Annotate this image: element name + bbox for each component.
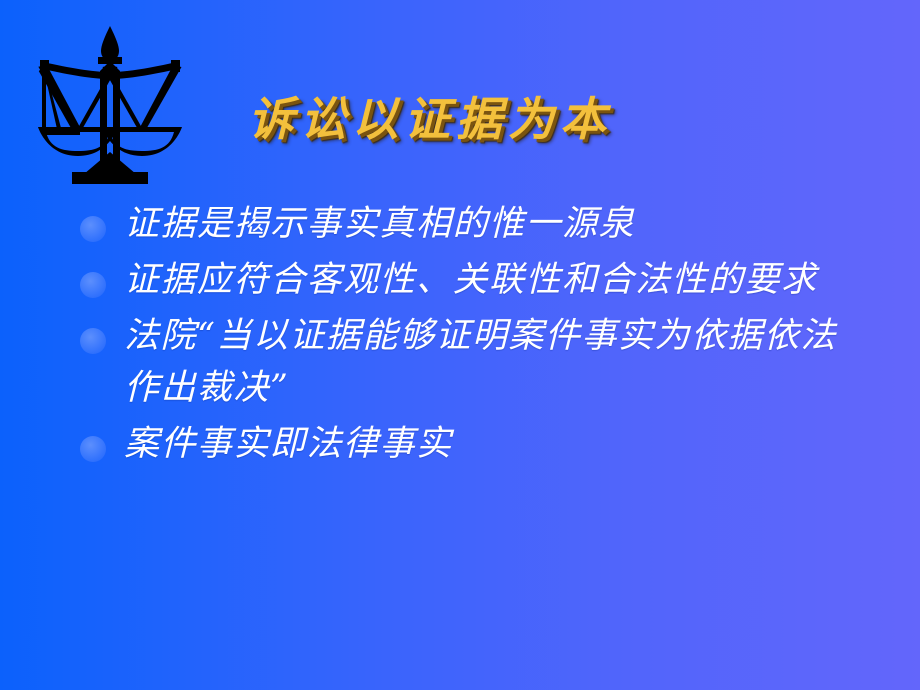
list-item: 证据是揭示事实真相的惟一源泉 xyxy=(74,198,874,250)
list-item: 案件事实即法律事实 xyxy=(74,418,874,470)
slide-title: 诉讼以证据为本 xyxy=(248,86,808,158)
list-item: 证据应符合客观性、关联性和合法性的要求 xyxy=(74,254,874,306)
bullet-list: 证据是揭示事实真相的惟一源泉 证据应符合客观性、关联性和合法性的要求 法院“当以… xyxy=(74,198,874,474)
list-item-label: 证据是揭示事实真相的惟一源泉 xyxy=(124,198,744,250)
disc-bullet-icon xyxy=(80,216,106,242)
presentation-slide: 诉讼以证据为本 证据是揭示事实真相的惟一源泉 证据应符合客观性、关联性和合法性的… xyxy=(0,0,920,690)
list-item-label: 案件事实即法律事实 xyxy=(124,418,744,470)
disc-bullet-icon xyxy=(80,328,106,354)
list-item-label: 证据应符合客观性、关联性和合法性的要求 xyxy=(124,254,836,306)
list-item: 法院“当以证据能够证明案件事实为依据依法作出裁决” xyxy=(74,310,874,414)
disc-bullet-icon xyxy=(80,436,106,462)
disc-bullet-icon xyxy=(80,272,106,298)
scales-of-justice-icon xyxy=(30,24,190,186)
list-item-label: 法院“当以证据能够证明案件事实为依据依法作出裁决” xyxy=(124,310,846,414)
